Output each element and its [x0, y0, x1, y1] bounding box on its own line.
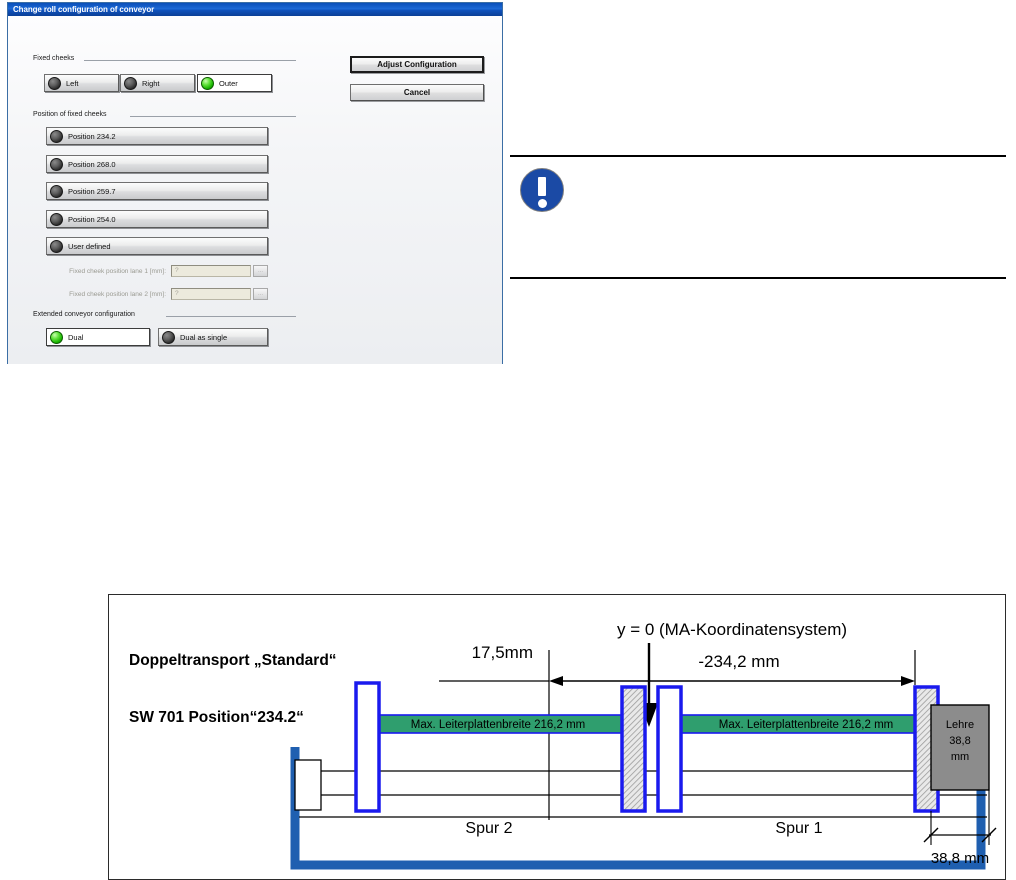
led-indicator-icon — [162, 331, 175, 344]
conveyor-frame-left — [295, 747, 895, 865]
cancel-button[interactable]: Cancel — [350, 84, 484, 101]
change-roll-configuration-dialog: Change roll configuration of conveyor Fi… — [7, 2, 503, 364]
field-label-lane-2: Fixed cheek position lane 2 [mm]: — [26, 291, 166, 298]
arrow-head-right — [901, 676, 915, 686]
radio-position-234-2[interactable]: Position 234.2 — [46, 127, 268, 145]
dialog-title: Change roll configuration of conveyor — [13, 5, 154, 14]
lane-label-1: Spur 1 — [775, 820, 822, 837]
dialog-titlebar[interactable]: Change roll configuration of conveyor — [8, 3, 502, 16]
radio-position-254-0[interactable]: Position 254.0 — [46, 210, 268, 228]
led-indicator-icon — [50, 213, 63, 226]
group-divider — [166, 316, 296, 317]
group-fixed-cheeks-label: Fixed cheeks — [30, 55, 77, 62]
band-label-lane-2: Max. Leiterplattenbreite 216,2 mm — [411, 719, 586, 731]
group-position-label: Position of fixed cheeks — [30, 111, 110, 118]
radio-label: Position 268.0 — [68, 160, 116, 169]
exclamation-bar — [538, 177, 546, 196]
gauge-label-line-1: Lehre — [946, 719, 974, 731]
dimension-label-main: -234,2 mm — [698, 652, 779, 671]
group-divider — [130, 116, 296, 117]
cheek-centre-moving — [658, 687, 681, 811]
browse-button-lane-2[interactable]: ... — [253, 288, 268, 300]
led-indicator-icon — [50, 185, 63, 198]
radio-extended-dual[interactable]: Dual — [46, 328, 150, 346]
arrow-head-left — [549, 676, 563, 686]
mandatory-action-icon — [520, 168, 564, 212]
conveyor-diagram: Doppeltransport „Standard“ SW 701 Positi… — [108, 594, 1006, 880]
adjust-configuration-button[interactable]: Adjust Configuration — [350, 56, 484, 73]
cheek-outer-left — [356, 683, 379, 811]
led-indicator-icon — [124, 77, 137, 90]
browse-button-lane-1[interactable]: ... — [253, 265, 268, 277]
led-indicator-icon — [201, 77, 214, 90]
led-indicator-icon — [50, 331, 63, 344]
gauge-dimension-label: 38,8 mm — [931, 850, 989, 867]
radio-label: Right — [142, 79, 160, 88]
group-divider — [84, 60, 296, 61]
radio-label: Position 259.7 — [68, 187, 116, 196]
radio-position-user-defined[interactable]: User defined — [46, 237, 268, 255]
band-label-lane-1: Max. Leiterplattenbreite 216,2 mm — [719, 719, 894, 731]
cheek-centre-fixed — [622, 687, 645, 811]
radio-label: Position 234.2 — [68, 132, 116, 141]
gauge-label-line-3: mm — [951, 751, 969, 763]
origin-label: y = 0 (MA-Koordinatensystem) — [617, 620, 847, 639]
radio-label: Dual as single — [180, 333, 227, 342]
radio-fixed-cheeks-right[interactable]: Right — [120, 74, 195, 92]
radio-position-268-0[interactable]: Position 268.0 — [46, 155, 268, 173]
radio-label: Left — [66, 79, 79, 88]
fixed-cheek-position-lane-1-input[interactable]: ? — [171, 265, 251, 277]
end-stop-block — [295, 760, 321, 810]
lane-label-2: Spur 2 — [465, 820, 512, 837]
led-indicator-icon — [50, 130, 63, 143]
dimension-label-left: 17,5mm — [472, 643, 533, 662]
radio-label: User defined — [68, 242, 111, 251]
radio-label: Position 254.0 — [68, 215, 116, 224]
notice-top-rule — [510, 155, 1006, 157]
dialog-body: Fixed cheeks Left Right Outer Adjust Con… — [8, 16, 502, 364]
radio-fixed-cheeks-outer[interactable]: Outer — [197, 74, 272, 92]
notice-bottom-rule — [510, 277, 1006, 279]
notice-box — [510, 155, 1006, 279]
led-indicator-icon — [48, 77, 61, 90]
radio-position-259-7[interactable]: Position 259.7 — [46, 182, 268, 200]
page-root: Change roll configuration of conveyor Fi… — [0, 0, 1016, 880]
gauge-label-line-2: 38,8 — [949, 735, 970, 747]
conveyor-drawing-svg: 17,5mm y = 0 (MA-Koordinatensystem) -234… — [109, 595, 1007, 880]
gauge-block — [931, 705, 989, 790]
radio-extended-dual-as-single[interactable]: Dual as single — [158, 328, 268, 346]
led-indicator-icon — [50, 158, 63, 171]
led-indicator-icon — [50, 240, 63, 253]
exclamation-dot — [538, 199, 547, 208]
radio-label: Dual — [68, 333, 83, 342]
fixed-cheek-position-lane-2-input[interactable]: ? — [171, 288, 251, 300]
group-extended-label: Extended conveyor configuration — [30, 311, 138, 318]
radio-fixed-cheeks-left[interactable]: Left — [44, 74, 119, 92]
field-label-lane-1: Fixed cheek position lane 1 [mm]: — [26, 268, 166, 275]
radio-label: Outer — [219, 79, 238, 88]
